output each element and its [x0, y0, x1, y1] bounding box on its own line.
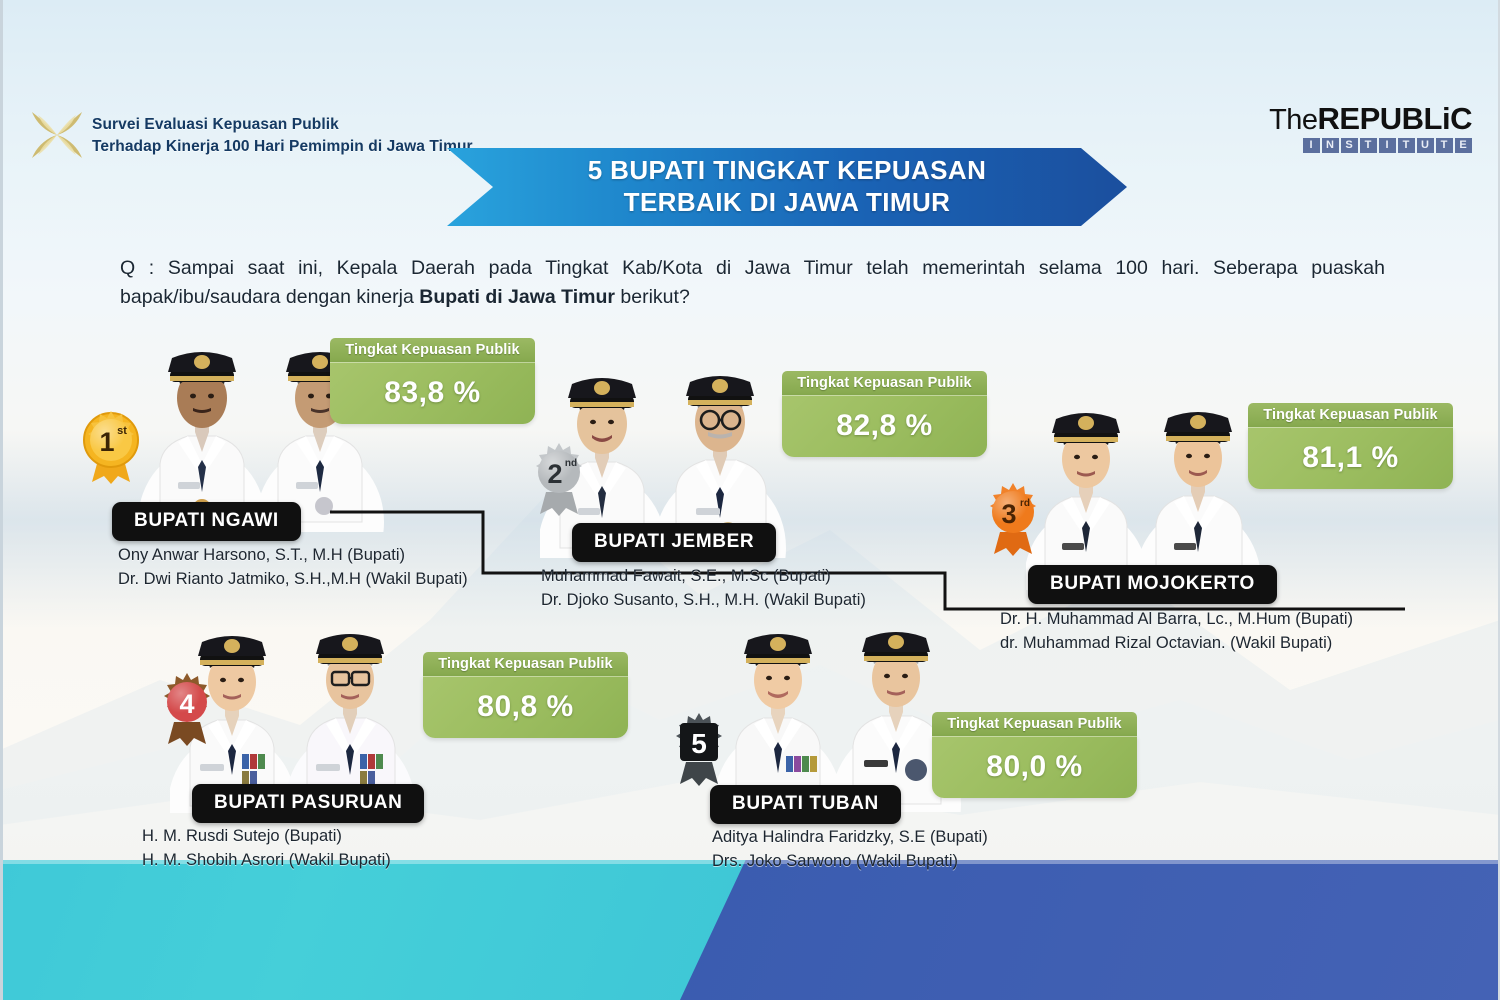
satisfaction-percent: 82,8 % [836, 409, 932, 443]
region-nameplate-tuban[interactable]: BUPATI TUBAN [710, 785, 901, 824]
butterfly-ornament-icon [26, 104, 88, 166]
satisfaction-header-label: Tingkat Kepuasan Publik [423, 652, 628, 676]
survey-subtitle: Survei Evaluasi Kepuasan Publik Terhadap… [92, 114, 473, 158]
brand-letter: I [1303, 138, 1320, 153]
footer-band-right [680, 860, 1500, 1000]
region-nameplate-jember[interactable]: BUPATI JEMBER [572, 523, 776, 562]
svg-text:1: 1 [99, 427, 114, 457]
satisfaction-header-label: Tingkat Kepuasan Publik [782, 371, 987, 395]
region-nameplate-pasuruan[interactable]: BUPATI PASURUAN [192, 784, 424, 823]
satisfaction-box-pasuruan: Tingkat Kepuasan Publik 80,8 % [423, 652, 628, 738]
brand-letter: I [1379, 138, 1396, 153]
satisfaction-box-ngawi: Tingkat Kepuasan Publik 83,8 % [330, 338, 535, 424]
svg-text:2: 2 [547, 459, 562, 489]
brand-letter: E [1455, 138, 1472, 153]
svg-text:rd: rd [1020, 498, 1030, 509]
officials-list-pasuruan: H. M. Rusdi Sutejo (Bupati) H. M. Shobih… [142, 824, 391, 873]
title-line-2: TERBAIK DI JAWA TIMUR [588, 187, 987, 219]
official-deputy: Dr. Dwi Rianto Jatmiko, S.H.,M.H (Wakil … [118, 567, 468, 591]
satisfaction-percent: 81,1 % [1302, 441, 1398, 475]
rank-badge-1-icon: 1 st [80, 408, 142, 484]
question-suffix: berikut? [615, 286, 690, 308]
brand-letter: U [1417, 138, 1434, 153]
rank-badge-2-icon: 2 nd [528, 440, 590, 516]
svg-text:4: 4 [179, 689, 194, 719]
survey-question: Q : Sampai saat ini, Kepala Daerah pada … [120, 254, 1385, 313]
officials-list-jember: Muhammad Fawait, S.E., M.Sc (Bupati) Dr.… [541, 564, 866, 613]
republic-institute-logo: TheREPUBLiC I N S T I T U T E [1269, 103, 1472, 153]
brand-wordmark: TheREPUBLiC [1269, 103, 1472, 135]
officials-list-tuban: Aditya Halindra Faridzky, S.E (Bupati) D… [712, 825, 988, 874]
satisfaction-header-label: Tingkat Kepuasan Publik [330, 338, 535, 362]
svg-text:nd: nd [565, 458, 577, 469]
satisfaction-percent: 80,8 % [477, 690, 573, 724]
survey-subtitle-line1: Survei Evaluasi Kepuasan Publik [92, 114, 473, 136]
brand-letter: T [1398, 138, 1415, 153]
title-line-1: 5 BUPATI TINGKAT KEPUASAN [588, 155, 987, 187]
brand-letter: T [1360, 138, 1377, 153]
satisfaction-value-container: 83,8 % [330, 362, 535, 424]
officials-photo-mojokerto [1026, 395, 1266, 590]
infographic-canvas: Survei Evaluasi Kepuasan Publik Terhadap… [0, 0, 1500, 1000]
satisfaction-header-label: Tingkat Kepuasan Publik [932, 712, 1137, 736]
svg-text:5: 5 [691, 728, 707, 759]
official-deputy: Drs. Joko Sarwono (Wakil Bupati) [712, 849, 988, 873]
satisfaction-percent: 83,8 % [384, 376, 480, 410]
official-primary: Dr. H. Muhammad Al Barra, Lc., M.Hum (Bu… [1000, 607, 1353, 631]
satisfaction-value-container: 81,1 % [1248, 427, 1453, 489]
satisfaction-header-label: Tingkat Kepuasan Publik [1248, 403, 1453, 427]
satisfaction-value-container: 82,8 % [782, 395, 987, 457]
brand-letter: S [1341, 138, 1358, 153]
svg-text:st: st [117, 425, 127, 437]
satisfaction-box-jember: Tingkat Kepuasan Publik 82,8 % [782, 371, 987, 457]
brand-republic: REPUBLiC [1318, 101, 1472, 136]
title-banner: 5 BUPATI TINGKAT KEPUASAN TERBAIK DI JAW… [447, 148, 1127, 226]
rank-badge-5-icon: 5 [668, 710, 730, 786]
official-primary: Aditya Halindra Faridzky, S.E (Bupati) [712, 825, 988, 849]
question-prefix: Q : Sampai saat ini, Kepala Daerah pada … [120, 257, 1385, 308]
satisfaction-box-tuban: Tingkat Kepuasan Publik 80,0 % [932, 712, 1137, 798]
rank-badge-3-icon: 3 rd [982, 480, 1044, 556]
officials-list-ngawi: Ony Anwar Harsono, S.T., M.H (Bupati) Dr… [118, 543, 468, 592]
region-nameplate-mojokerto[interactable]: BUPATI MOJOKERTO [1028, 565, 1277, 604]
satisfaction-value-container: 80,0 % [932, 736, 1137, 798]
brand-institute-letters: I N S T I T U T E [1269, 138, 1472, 153]
survey-subtitle-line2: Terhadap Kinerja 100 Hari Pemimpin di Ja… [92, 136, 473, 158]
satisfaction-value-container: 80,8 % [423, 676, 628, 738]
official-primary: H. M. Rusdi Sutejo (Bupati) [142, 824, 391, 848]
rank-badge-4-icon: 4 [156, 670, 218, 746]
officials-photo-tuban [716, 612, 966, 812]
region-nameplate-ngawi[interactable]: BUPATI NGAWI [112, 502, 301, 541]
satisfaction-box-mojokerto: Tingkat Kepuasan Publik 81,1 % [1248, 403, 1453, 489]
svg-text:3: 3 [1001, 499, 1016, 529]
official-primary: Ony Anwar Harsono, S.T., M.H (Bupati) [118, 543, 468, 567]
brand-letter: N [1322, 138, 1339, 153]
question-bold: Bupati di Jawa Timur [419, 286, 615, 308]
official-primary: Muhammad Fawait, S.E., M.Sc (Bupati) [541, 564, 866, 588]
officials-list-mojokerto: Dr. H. Muhammad Al Barra, Lc., M.Hum (Bu… [1000, 607, 1353, 656]
satisfaction-percent: 80,0 % [986, 750, 1082, 784]
footer-band-left [0, 860, 760, 1000]
official-deputy: Dr. Djoko Susanto, S.H., M.H. (Wakil Bup… [541, 588, 866, 612]
official-deputy: dr. Muhammad Rizal Octavian. (Wakil Bupa… [1000, 631, 1353, 655]
title-banner-text: 5 BUPATI TINGKAT KEPUASAN TERBAIK DI JAW… [588, 155, 987, 218]
brand-letter: T [1436, 138, 1453, 153]
official-deputy: H. M. Shobih Asrori (Wakil Bupati) [142, 848, 391, 872]
brand-the: The [1269, 104, 1317, 136]
footer-color-band [0, 860, 1500, 1000]
